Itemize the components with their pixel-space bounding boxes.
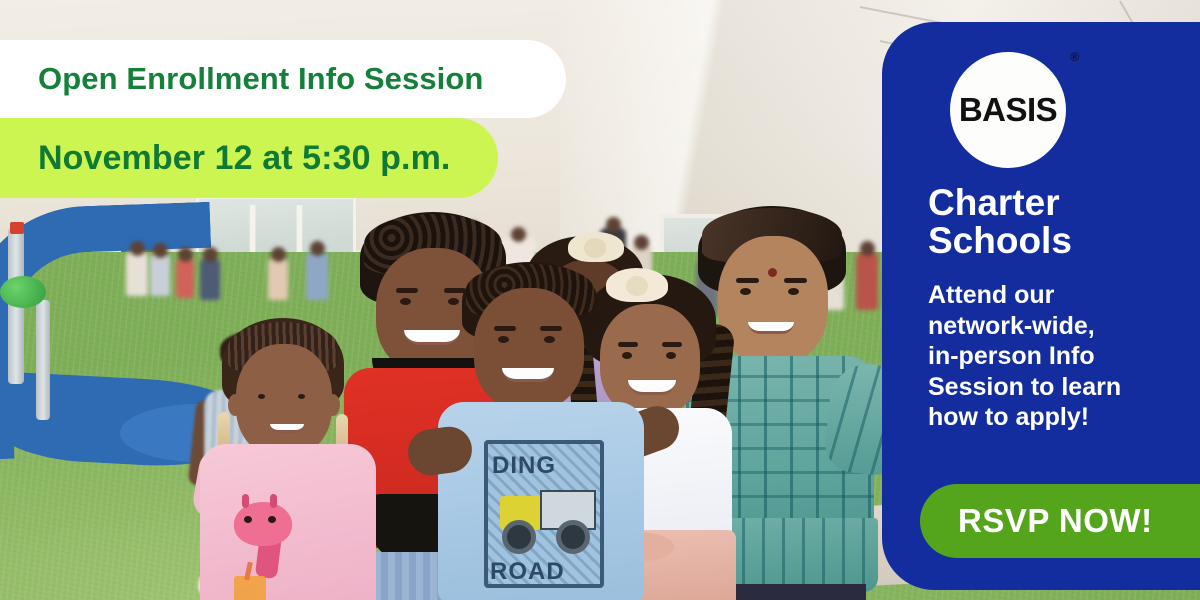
description-line-5: how to apply! [928, 402, 1196, 433]
brand-panel: BASIS ® Charter Schools Attend our netwo… [882, 22, 1200, 590]
event-date-time: November 12 at 5:30 p.m. [38, 139, 450, 178]
brand-line-2: Schools [928, 222, 1188, 260]
registered-trademark-icon: ® [1070, 50, 1079, 64]
child-pink-giraffe-shirt [206, 318, 366, 600]
date-banner: November 12 at 5:30 p.m. [0, 118, 498, 198]
event-description: Attend our network-wide, in-person Info … [928, 280, 1196, 433]
tshirt-text-bottom: ROAD [490, 558, 600, 584]
tshirt-text-top: DING [492, 452, 596, 478]
headline-banner: Open Enrollment Info Session [0, 40, 566, 118]
page-title: Open Enrollment Info Session [38, 61, 483, 97]
rsvp-now-button[interactable]: RSVP NOW! [920, 484, 1200, 558]
event-flyer: DING ROAD Open Enrollment Info Session [0, 0, 1200, 600]
description-line-2: network-wide, [928, 311, 1196, 342]
child-blue-truck-shirt: DING ROAD [438, 262, 648, 600]
rsvp-button-label: RSVP NOW! [958, 502, 1153, 540]
basis-logo-wordmark: BASIS [959, 91, 1057, 129]
brand-line-1: Charter [928, 184, 1188, 222]
brand-name: Charter Schools [928, 184, 1188, 261]
description-line-4: Session to learn [928, 372, 1196, 403]
basis-logo-badge: BASIS ® [950, 52, 1066, 168]
dump-truck-icon [498, 490, 598, 552]
description-line-1: Attend our [928, 280, 1196, 311]
juice-cup-graphic-icon [234, 576, 266, 600]
description-line-3: in-person Info [928, 341, 1196, 372]
